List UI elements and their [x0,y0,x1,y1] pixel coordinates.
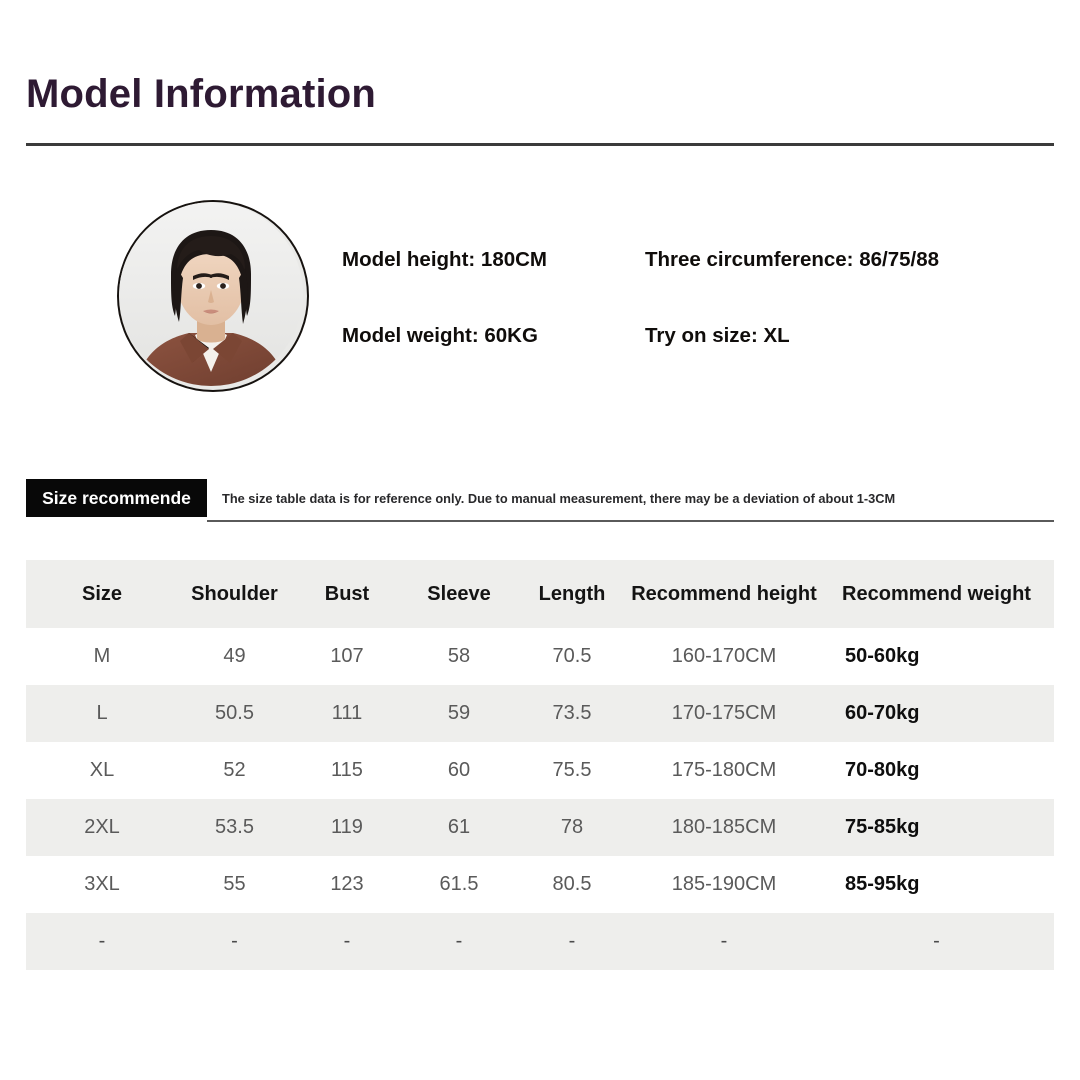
size-table-header: Size Shoulder Bust Sleeve Length Recomme… [26,560,1054,628]
table-row: 3XL 55 123 61.5 80.5 185-190CM 85-95kg [26,856,1054,913]
cell-shoulder: - [178,913,291,970]
table-row: XL 52 115 60 75.5 175-180CM 70-80kg [26,742,1054,799]
cell-length: 78 [515,799,629,856]
size-table-body: M 49 107 58 70.5 160-170CM 50-60kg L 50.… [26,628,1054,970]
cell-recommend-height: 180-185CM [629,799,819,856]
table-row: 2XL 53.5 119 61 78 180-185CM 75-85kg [26,799,1054,856]
cell-recommend-height: 170-175CM [629,685,819,742]
size-chart-table: Size Shoulder Bust Sleeve Length Recomme… [26,560,1054,970]
size-bar-divider [207,520,1054,522]
col-header-recommend-height: Recommend height [629,560,819,628]
cell-recommend-weight: 60-70kg [819,685,1054,742]
col-header-length: Length [515,560,629,628]
cell-bust: 111 [291,685,403,742]
table-row: - - - - - - - [26,913,1054,970]
cell-recommend-weight: 50-60kg [819,628,1054,685]
col-header-sleeve: Sleeve [403,560,515,628]
cell-recommend-height: - [629,913,819,970]
try-on-size-label: Try on size: XL [645,324,790,348]
size-disclaimer-note: The size table data is for reference onl… [222,491,895,506]
cell-size: M [26,628,178,685]
cell-bust: 107 [291,628,403,685]
table-header-row: Size Shoulder Bust Sleeve Length Recomme… [26,560,1054,628]
page-title: Model Information [26,74,376,114]
model-height-label: Model height: 180CM [342,248,547,272]
cell-length: 75.5 [515,742,629,799]
cell-sleeve: 60 [403,742,515,799]
cell-shoulder: 52 [178,742,291,799]
cell-size: 2XL [26,799,178,856]
cell-length: 70.5 [515,628,629,685]
size-recommendation-bar: Size recommende The size table data is f… [26,479,1054,523]
model-weight-label: Model weight: 60KG [342,324,538,348]
title-divider [26,143,1054,146]
cell-bust: 119 [291,799,403,856]
cell-recommend-height: 175-180CM [629,742,819,799]
cell-recommend-weight: 85-95kg [819,856,1054,913]
col-header-size: Size [26,560,178,628]
cell-sleeve: 61 [403,799,515,856]
cell-length: - [515,913,629,970]
cell-shoulder: 53.5 [178,799,291,856]
cell-recommend-weight: 75-85kg [819,799,1054,856]
cell-recommend-height: 185-190CM [629,856,819,913]
cell-sleeve: 59 [403,685,515,742]
cell-length: 73.5 [515,685,629,742]
cell-bust: - [291,913,403,970]
three-circumference-label: Three circumference: 86/75/88 [645,248,939,272]
model-portrait-avatar [117,200,309,392]
cell-size: 3XL [26,856,178,913]
cell-recommend-weight: - [819,913,1054,970]
cell-length: 80.5 [515,856,629,913]
cell-size: XL [26,742,178,799]
cell-size: L [26,685,178,742]
table-row: M 49 107 58 70.5 160-170CM 50-60kg [26,628,1054,685]
cell-bust: 115 [291,742,403,799]
cell-sleeve: - [403,913,515,970]
cell-size: - [26,913,178,970]
cell-recommend-height: 160-170CM [629,628,819,685]
cell-shoulder: 55 [178,856,291,913]
cell-shoulder: 50.5 [178,685,291,742]
cell-sleeve: 61.5 [403,856,515,913]
size-recommend-badge: Size recommende [26,479,207,517]
col-header-recommend-weight: Recommend weight [819,560,1054,628]
cell-sleeve: 58 [403,628,515,685]
cell-bust: 123 [291,856,403,913]
col-header-bust: Bust [291,560,403,628]
col-header-shoulder: Shoulder [178,560,291,628]
cell-shoulder: 49 [178,628,291,685]
model-portrait-icon [119,202,303,386]
cell-recommend-weight: 70-80kg [819,742,1054,799]
table-row: L 50.5 111 59 73.5 170-175CM 60-70kg [26,685,1054,742]
model-information-block: Model height: 180CM Three circumference:… [0,193,1080,423]
